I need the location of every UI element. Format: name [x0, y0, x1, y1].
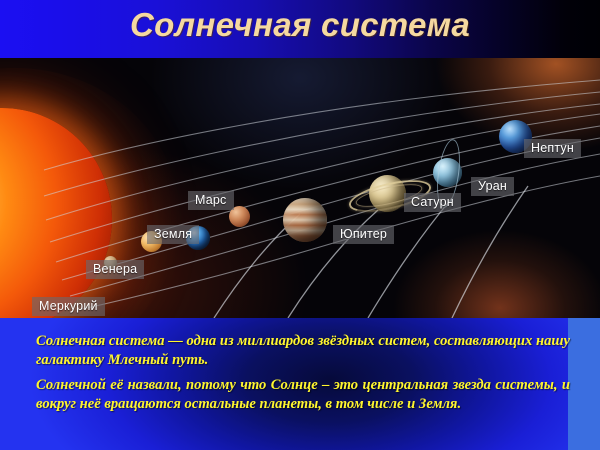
label-saturn: Сатурн [404, 193, 461, 212]
presentation-slide: Солнечная система [0, 0, 600, 450]
label-earth: Земля [147, 225, 199, 244]
label-neptune: Нептун [524, 139, 581, 158]
label-uranus: Уран [471, 177, 514, 196]
slide-header: Солнечная система [0, 0, 600, 58]
solar-system-illustration: Меркурий Венера Земля Марс Юпитер Сатурн… [0, 58, 600, 318]
panel-right-accent-band [568, 318, 600, 450]
slide-body-panel: Солнечная система — одна из миллиардов з… [0, 318, 600, 450]
body-paragraph-1: Солнечная система — одна из миллиардов з… [36, 332, 570, 370]
label-jupiter: Юпитер [333, 225, 394, 244]
label-mercury: Меркурий [32, 297, 105, 316]
page-title: Солнечная система [0, 6, 600, 44]
body-paragraph-2: Солнечной её назвали, потому что Солнце … [36, 376, 570, 414]
planet-jupiter [283, 198, 327, 242]
label-venus: Венера [86, 260, 144, 279]
label-mars: Марс [188, 191, 234, 210]
